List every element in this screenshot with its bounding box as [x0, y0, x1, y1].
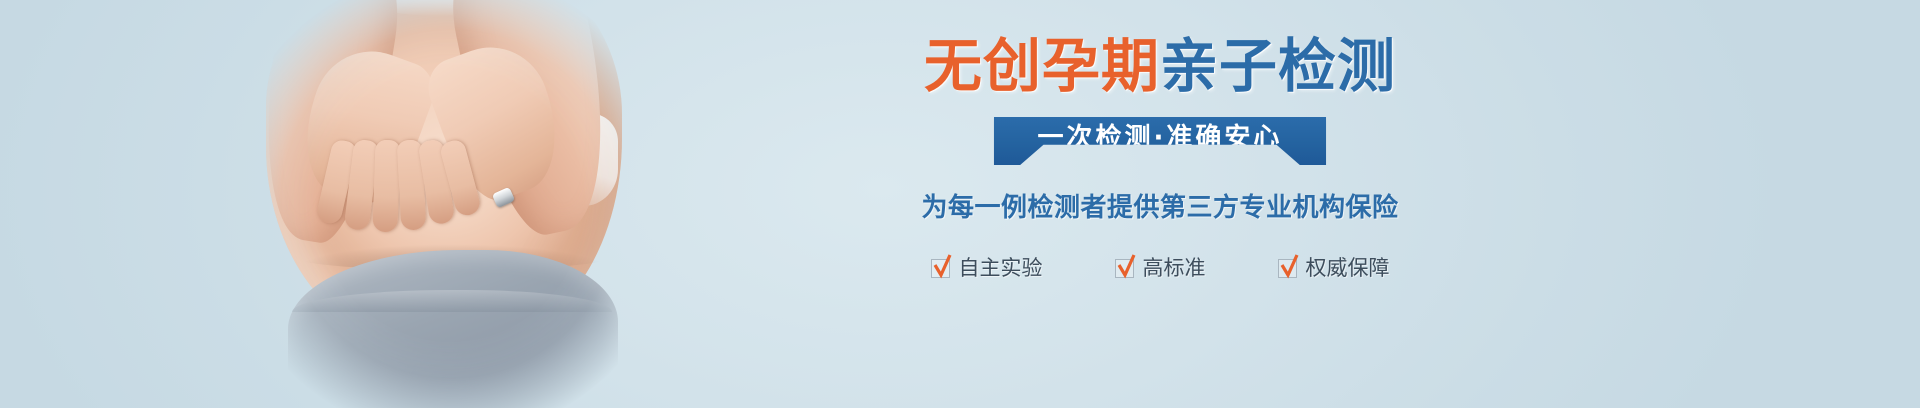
pregnancy-photo-composite	[232, 0, 652, 408]
feature-item-2: 权威保障	[1278, 258, 1390, 279]
promo-banner: 无创孕期亲子检测 一次检测·准确安心 为每一例检测者提供第三方专业机构保险 自主…	[0, 0, 1920, 408]
feature-item-1: 高标准	[1115, 258, 1206, 279]
checkbox-checked-icon	[931, 259, 950, 278]
tagline-ribbon-text: 一次检测·准确安心	[1038, 117, 1283, 154]
gray-pants	[288, 250, 618, 408]
tagline-ribbon: 一次检测·准确安心	[994, 117, 1327, 165]
feature-label-2: 权威保障	[1306, 258, 1390, 279]
description-text: 为每一例检测者提供第三方专业机构保险	[921, 187, 1398, 224]
banner-content: 无创孕期亲子检测 一次检测·准确安心 为每一例检测者提供第三方专业机构保险 自主…	[760, 0, 1560, 408]
feature-label-1: 高标准	[1143, 258, 1206, 279]
feature-item-0: 自主实验	[931, 258, 1043, 279]
fingers-row	[324, 140, 474, 236]
feature-label-0: 自主实验	[959, 258, 1043, 279]
checkbox-checked-icon	[1115, 259, 1134, 278]
feature-list: 自主实验 高标准 权威保障	[931, 258, 1390, 279]
headline-part-orange: 无创孕期	[924, 32, 1160, 100]
checkbox-checked-icon	[1278, 259, 1297, 278]
headline-part-blue: 亲子检测	[1160, 32, 1396, 100]
hero-photo	[232, 0, 652, 408]
headline: 无创孕期亲子检测	[924, 34, 1396, 99]
